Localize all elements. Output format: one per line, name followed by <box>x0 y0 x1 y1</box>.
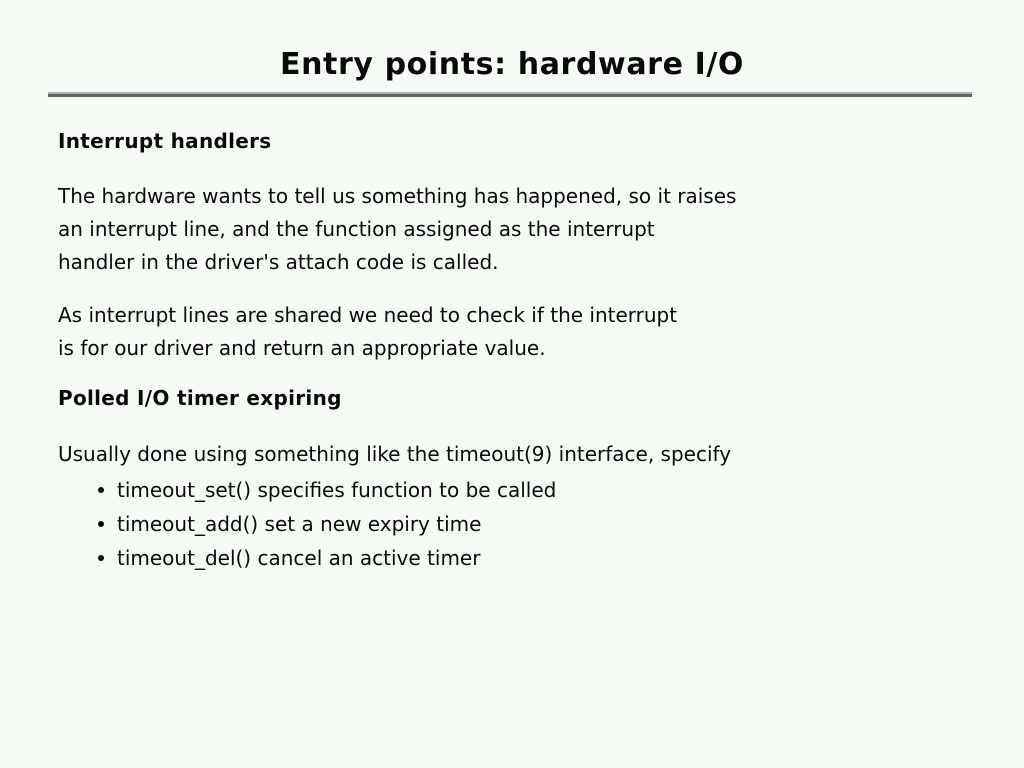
spacer <box>58 279 978 299</box>
title-divider <box>48 92 972 97</box>
paragraph-line: an interrupt line, and the function assi… <box>58 213 978 246</box>
paragraph-line: is for our driver and return an appropri… <box>58 332 978 365</box>
list-item-label: timeout_del() cancel an active timer <box>117 546 480 570</box>
paragraph-line: As interrupt lines are shared we need to… <box>58 299 978 332</box>
title-divider-body <box>48 94 972 97</box>
list-item: timeout_set() specifies function to be c… <box>58 473 978 507</box>
bullet-dot-icon <box>98 555 104 561</box>
slide-content: Interrupt handlers The hardware wants to… <box>58 128 978 575</box>
section-heading-polled-io: Polled I/O timer expiring <box>58 385 978 411</box>
list-item-label: timeout_set() specifies function to be c… <box>117 478 556 502</box>
section-heading-interrupt-handlers: Interrupt handlers <box>58 128 978 154</box>
paragraph-line: Usually done using something like the ti… <box>58 438 978 471</box>
slide: Entry points: hardware I/O Interrupt han… <box>0 0 1024 768</box>
paragraph-line: handler in the driver's attach code is c… <box>58 246 978 279</box>
paragraph-interrupt-handlers-1: The hardware wants to tell us something … <box>58 180 978 279</box>
paragraph-interrupt-handlers-2: As interrupt lines are shared we need to… <box>58 299 978 365</box>
bullet-dot-icon <box>98 487 104 493</box>
spacer <box>58 154 978 180</box>
spacer <box>58 411 978 438</box>
paragraph-polled-io-intro: Usually done using something like the ti… <box>58 438 978 471</box>
list-item: timeout_add() set a new expiry time <box>58 507 978 541</box>
bullet-dot-icon <box>98 521 104 527</box>
paragraph-line: The hardware wants to tell us something … <box>58 180 978 213</box>
spacer <box>58 365 978 385</box>
page-title: Entry points: hardware I/O <box>0 46 1024 84</box>
timeout-api-bullet-list: timeout_set() specifies function to be c… <box>58 473 978 575</box>
list-item: timeout_del() cancel an active timer <box>58 541 978 575</box>
list-item-label: timeout_add() set a new expiry time <box>117 512 481 536</box>
